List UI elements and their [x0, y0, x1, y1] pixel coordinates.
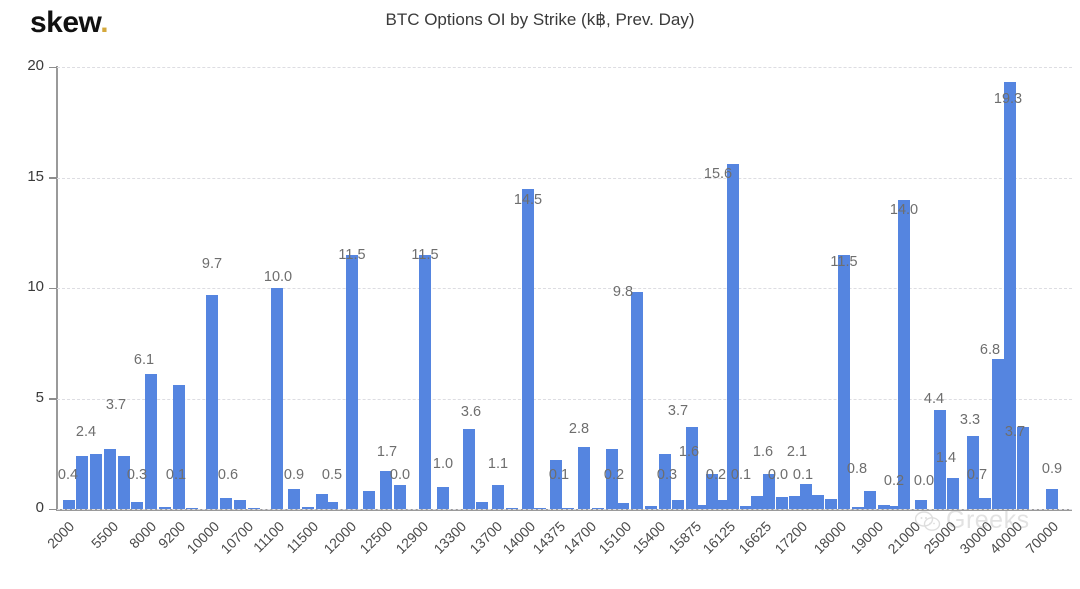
- bar-value-label: 9.8: [613, 284, 633, 300]
- bar-value-label: 0.0: [914, 473, 934, 489]
- bar-value-label: 2.8: [569, 421, 589, 437]
- bar[interactable]: [506, 508, 518, 510]
- bar-value-label: 0.1: [549, 467, 569, 483]
- bar[interactable]: [534, 508, 546, 510]
- bar-value-label: 1.1: [488, 456, 508, 472]
- bar[interactable]: [248, 508, 260, 510]
- bar[interactable]: [288, 489, 300, 509]
- bar-value-label: 1.6: [753, 444, 773, 460]
- bar-value-label: 3.3: [960, 412, 980, 428]
- bar[interactable]: [476, 502, 488, 509]
- bars-layer: [57, 67, 1072, 509]
- bar-value-label: 11.5: [411, 247, 438, 263]
- bar[interactable]: [776, 497, 788, 509]
- bar[interactable]: [234, 500, 246, 509]
- bar[interactable]: [915, 500, 927, 509]
- bar-value-label: 0.8: [847, 461, 867, 477]
- bar-value-label: 0.1: [793, 467, 813, 483]
- bar[interactable]: [898, 200, 910, 509]
- bar-value-label: 1.4: [936, 450, 956, 466]
- bar-value-label: 0.0: [390, 467, 410, 483]
- bar-value-label: 0.2: [706, 467, 726, 483]
- y-tick-mark: [49, 67, 57, 69]
- bar[interactable]: [672, 500, 684, 509]
- bar-value-label: 2.1: [787, 444, 807, 460]
- bar[interactable]: [90, 454, 102, 509]
- bar-value-label: 0.9: [284, 467, 304, 483]
- bar[interactable]: [186, 508, 198, 510]
- bar[interactable]: [992, 359, 1004, 509]
- bar-value-label: 1.6: [679, 444, 699, 460]
- bar[interactable]: [686, 427, 698, 509]
- bar[interactable]: [812, 495, 824, 509]
- bar-value-label: 3.7: [668, 403, 688, 419]
- bar[interactable]: [206, 295, 218, 509]
- bar-value-label: 0.1: [166, 467, 186, 483]
- bar[interactable]: [825, 499, 837, 509]
- y-tick-label: 15: [0, 168, 44, 185]
- bar[interactable]: [463, 429, 475, 509]
- bar-value-label: 0.3: [127, 467, 147, 483]
- bar[interactable]: [363, 491, 375, 509]
- bar-value-label: 11.5: [830, 254, 857, 270]
- bar-value-label: 3.7: [106, 397, 126, 413]
- bar-value-label: 1.0: [433, 456, 453, 472]
- x-axis-labels: 2000550080009200100001070011100115001200…: [57, 518, 1072, 589]
- bar[interactable]: [419, 255, 431, 509]
- bar-value-label: 0.2: [604, 467, 624, 483]
- bar[interactable]: [104, 449, 116, 509]
- bar-value-label: 14.0: [890, 202, 918, 218]
- bar-value-label: 6.8: [980, 342, 1000, 358]
- bar[interactable]: [578, 447, 590, 509]
- bar[interactable]: [220, 498, 232, 509]
- bar-value-label: 0.7: [967, 467, 987, 483]
- bar-value-label: 0.1: [731, 467, 751, 483]
- bar[interactable]: [645, 506, 657, 509]
- bar[interactable]: [492, 485, 504, 509]
- bar[interactable]: [173, 385, 185, 509]
- gridline: [57, 509, 1072, 510]
- bar[interactable]: [1004, 82, 1016, 509]
- bar[interactable]: [437, 487, 449, 509]
- y-tick-mark: [49, 177, 57, 179]
- y-tick-mark: [49, 398, 57, 400]
- bar[interactable]: [800, 484, 812, 509]
- bar-value-label: 0.9: [1042, 461, 1062, 477]
- bar-value-label: 1.7: [377, 444, 397, 460]
- bar-value-label: 3.6: [461, 404, 481, 420]
- bar[interactable]: [979, 498, 991, 509]
- y-tick-label: 10: [0, 278, 44, 295]
- bar[interactable]: [159, 507, 171, 509]
- chart-header: skew. BTC Options OI by Strike (k฿, Prev…: [0, 0, 1080, 46]
- bar[interactable]: [864, 491, 876, 509]
- bar-value-label: 0.4: [58, 467, 78, 483]
- bar-value-label: 0.6: [218, 467, 238, 483]
- bar[interactable]: [727, 164, 739, 509]
- bar[interactable]: [617, 503, 629, 509]
- bar[interactable]: [326, 502, 338, 509]
- bar-value-label: 2.4: [76, 424, 96, 440]
- bar-value-label: 0.2: [884, 473, 904, 489]
- bar-value-label: 19.3: [994, 91, 1022, 107]
- bar-value-label: 0.5: [322, 467, 342, 483]
- bar[interactable]: [145, 374, 157, 509]
- bar[interactable]: [631, 292, 643, 509]
- bar-value-label: 4.4: [924, 391, 944, 407]
- bar[interactable]: [131, 502, 143, 509]
- y-tick-label: 5: [0, 389, 44, 406]
- bar-value-label: 3.7: [1005, 424, 1025, 440]
- bar[interactable]: [751, 496, 763, 509]
- bar[interactable]: [394, 485, 406, 509]
- y-tick-mark: [49, 509, 57, 511]
- bar[interactable]: [302, 507, 314, 509]
- bar[interactable]: [947, 478, 959, 509]
- bar[interactable]: [592, 508, 604, 510]
- bar[interactable]: [346, 255, 358, 509]
- chart-plot: 05101520 0.42.43.70.36.10.19.70.610.00.9…: [0, 46, 1080, 543]
- x-tick-label: 2000: [24, 518, 78, 572]
- bar[interactable]: [562, 508, 574, 510]
- bar-value-label: 15.6: [704, 166, 732, 182]
- bar[interactable]: [522, 189, 534, 509]
- bar[interactable]: [852, 507, 864, 509]
- y-tick-mark: [49, 288, 57, 290]
- bar-value-label: 6.1: [134, 352, 154, 368]
- y-tick-label: 20: [0, 57, 44, 74]
- bar-value-label: 0.0: [768, 467, 788, 483]
- page-title: BTC Options OI by Strike (k฿, Prev. Day): [0, 10, 1080, 30]
- y-tick-label: 0: [0, 499, 44, 516]
- bar-value-label: 10.0: [264, 269, 292, 285]
- bar[interactable]: [63, 500, 75, 509]
- bar-value-label: 0.3: [657, 467, 677, 483]
- bar-value-label: 11.5: [338, 247, 365, 263]
- bar[interactable]: [878, 505, 890, 509]
- bar-value-label: 14.5: [514, 192, 542, 208]
- bar[interactable]: [1046, 489, 1058, 509]
- bar-value-label: 9.7: [202, 256, 222, 272]
- bar[interactable]: [271, 288, 283, 509]
